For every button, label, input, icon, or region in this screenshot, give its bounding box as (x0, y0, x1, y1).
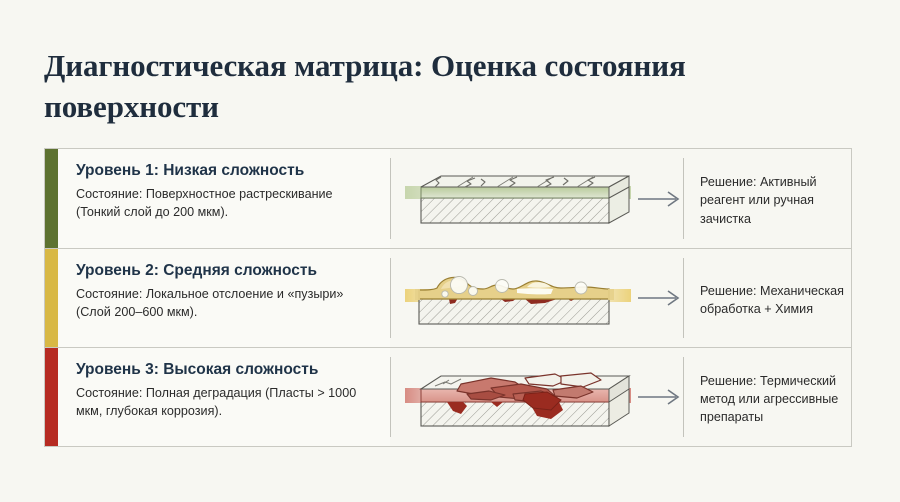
row-accent-bar-level-3 (45, 348, 58, 446)
solution-text: Решение: Термический метод или агрессивн… (700, 372, 862, 427)
row-description-cell: Уровень 3: Высокая сложность Состояние: … (58, 348, 390, 446)
solution-text: Решение: Механическая обработка + Химия (700, 282, 862, 319)
level-state-text: Состояние: Поверхностное растрескивание … (76, 186, 374, 222)
arrow-right-icon (637, 288, 683, 308)
row-accent-bar-level-1 (45, 149, 58, 248)
arrow-right-icon (637, 189, 683, 209)
row-solution-cell: Решение: Термический метод или агрессивн… (684, 348, 876, 446)
row-illustration-cell (390, 258, 684, 338)
table-row: Уровень 1: Низкая сложность Состояние: П… (45, 149, 851, 248)
diagnostic-matrix-page: Диагностическая матрица: Оценка состояни… (0, 0, 900, 502)
solution-text: Решение: Активный реагент или ручная зач… (700, 173, 862, 228)
slab-deep-corrosion-flaking-icon (405, 364, 631, 430)
table-row: Уровень 3: Высокая сложность Состояние: … (45, 347, 851, 446)
slab-blistering-delamination-icon (405, 267, 631, 329)
table-row: Уровень 2: Средняя сложность Состояние: … (45, 248, 851, 347)
level-state-text: Состояние: Полная деградация (Пласты > 1… (76, 385, 374, 421)
level-title: Уровень 3: Высокая сложность (76, 361, 374, 378)
row-description-cell: Уровень 2: Средняя сложность Состояние: … (58, 249, 390, 347)
row-solution-cell: Решение: Активный реагент или ручная зач… (684, 149, 876, 248)
level-state-text: Состояние: Локальное отслоение и «пузыри… (76, 286, 374, 322)
level-title: Уровень 2: Средняя сложность (76, 262, 374, 279)
row-accent-bar-level-2 (45, 249, 58, 347)
page-title: Диагностическая матрица: Оценка состояни… (44, 46, 844, 128)
arrow-right-icon (637, 387, 683, 407)
row-illustration-cell (390, 158, 684, 239)
level-title: Уровень 1: Низкая сложность (76, 162, 374, 179)
row-illustration-cell (390, 357, 684, 437)
slab-surface-cracking-icon (405, 168, 631, 230)
row-solution-cell: Решение: Механическая обработка + Химия (684, 249, 876, 347)
diagnostic-matrix-table: Уровень 1: Низкая сложность Состояние: П… (44, 148, 852, 447)
row-description-cell: Уровень 1: Низкая сложность Состояние: П… (58, 149, 390, 248)
